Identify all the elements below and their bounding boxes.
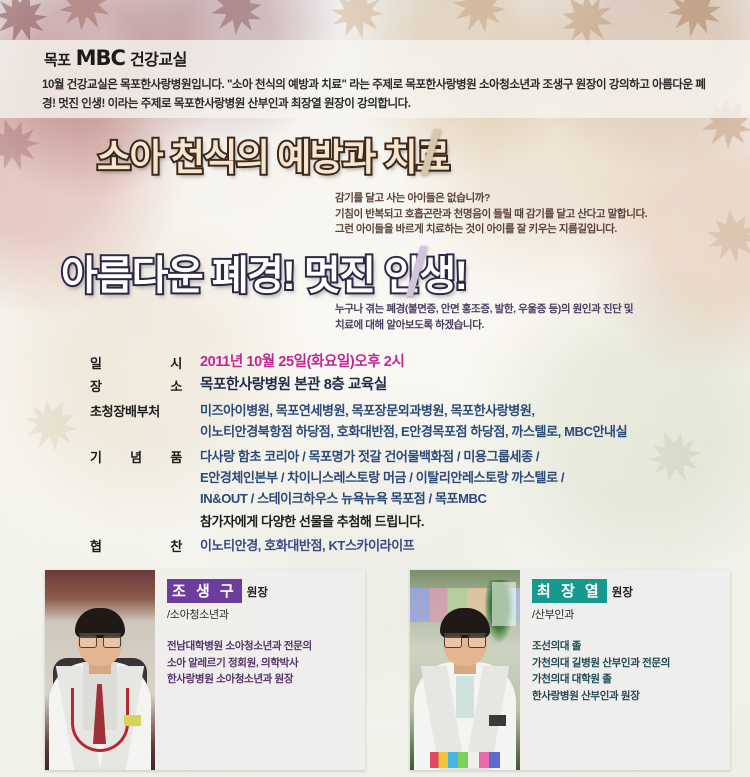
subtext-line: 감기를 달고 사는 아이들은 없습니까? (335, 191, 735, 207)
headline-one-subtext: 감기를 달고 사는 아이들은 없습니까? 기침이 반복되고 호흡곤란과 천명음이… (335, 191, 735, 238)
maple-leaf-icon (664, 0, 727, 42)
glasses-icon (79, 633, 121, 644)
doctor-department: /산부인과 (532, 606, 720, 622)
label-sponsor-b: 찬 (170, 536, 182, 555)
scrub-collar-shape (456, 676, 474, 718)
doctor-name-line: 최 장 열 원장 (532, 579, 720, 603)
name-badge-icon (489, 715, 506, 726)
maple-leaf-icon (14, 388, 87, 461)
doctor-position: 원장 (612, 584, 633, 600)
label-gift-a: 기 (90, 447, 102, 466)
credential-line: 가천의대 대학원 졸 (532, 671, 720, 688)
doctor-credentials: 조선의대 졸 가천의대 길병원 산부인과 전문의 가천의대 대학원 졸 한사랑병… (532, 638, 720, 704)
brand-mbc: MBC (76, 46, 125, 70)
credential-line: 전남대학병원 소아청소년과 전문의 (167, 638, 355, 655)
name-badge-icon (124, 715, 141, 726)
doctor-name-line: 조 생 구 원장 (167, 579, 355, 603)
label-sponsor-a: 협 (90, 536, 102, 555)
invite-line: 이노티안경북항점 하당점, 호화대반점, E안경목포점 하당점, 까스텔로, M… (200, 421, 627, 442)
brand-logo: 목포 MBC 건강교실 (44, 46, 187, 70)
poster-background: 목포 MBC 건강교실 10월 건강교실은 목포한사랑병원입니다. "소아 천식… (0, 0, 750, 777)
gift-line: E안경체인본부 / 차이니스레스토랑 머금 / 이탈리안레스토랑 까스텔로 / (200, 467, 564, 488)
subtext-line: 누구나 겪는 폐경(불면증, 안면 홍조증, 발한, 우울증 등)의 원인과 진… (335, 302, 735, 318)
value-gift: 다사랑 함초 코리아 / 목포명가 젓갈 건어물백화점 / 미용그룹세종 / E… (200, 446, 564, 509)
doctor-position: 원장 (247, 584, 268, 600)
label-place-a: 장 (90, 376, 102, 395)
window-shape (492, 582, 516, 626)
label-note-spacer (90, 511, 200, 512)
credential-line: 조선의대 졸 (532, 638, 720, 655)
glasses-icon (444, 633, 486, 644)
value-datetime: 2011년 10월 25일(화요일)오후 2시 (200, 352, 404, 373)
subtext-line: 그런 아이들을 바르게 치료하는 것이 아이를 잘 키우는 지름길입니다. (335, 222, 735, 238)
credential-line: 한사랑병원 소아청소년과 원장 (167, 671, 355, 688)
info-row-invite: 초청장배부처 미즈아이병원, 목포연세병원, 목포장문외과병원, 목포한사랑병원… (90, 400, 690, 442)
doctor-name: 조 생 구 (167, 579, 242, 603)
credential-line: 한사랑병원 산부인과 원장 (532, 688, 720, 705)
doctor-card: 최 장 열 원장 /산부인과 조선의대 졸 가천의대 길병원 산부인과 전문의 … (410, 570, 730, 770)
doctor-photo (410, 570, 520, 770)
value-sponsor: 이노티안경, 호화대반점, KT스카이라이프 (200, 535, 414, 556)
doctor-name: 최 장 열 (532, 579, 607, 603)
intro-paragraph: 10월 건강교실은 목포한사랑병원입니다. "소아 천식의 예방과 치료" 라는… (42, 76, 707, 114)
maple-leaf-icon (325, 0, 389, 45)
headline-one-group: 소아 천식의 예방과 치료 (97, 127, 449, 181)
credential-line: 소아 알레르기 정회원, 의학박사 (167, 655, 355, 672)
brand-mokpo: 목포 (44, 49, 71, 70)
info-row-sponsor: 협 찬 이노티안경, 호화대반점, KT스카이라이프 (90, 535, 690, 556)
value-note: 참가자에게 다양한 선물을 추첨해 드립니다. (200, 511, 424, 532)
info-row-note: 참가자에게 다양한 선물을 추첨해 드립니다. (90, 511, 690, 532)
doctor-credentials: 전남대학병원 소아청소년과 전문의 소아 알레르기 정회원, 의학박사 한사랑병… (167, 638, 355, 688)
doctor-info-pane: 최 장 열 원장 /산부인과 조선의대 졸 가천의대 길병원 산부인과 전문의 … (520, 570, 730, 770)
headline-one-title: 소아 천식의 예방과 치료 (97, 127, 449, 181)
label-gift: 기 념 품 (90, 446, 200, 466)
invite-line: 미즈아이병원, 목포연세병원, 목포장문외과병원, 목포한사랑병원, (200, 400, 627, 421)
value-invite: 미즈아이병원, 목포연세병원, 목포장문외과병원, 목포한사랑병원, 이노티안경… (200, 400, 627, 442)
label-place-b: 소 (170, 376, 182, 395)
label-datetime-a: 일 (90, 353, 102, 372)
doctor-info-pane: 조 생 구 원장 /소아청소년과 전남대학병원 소아청소년과 전문의 소아 알레… (155, 570, 365, 770)
doctor-card: 조 생 구 원장 /소아청소년과 전남대학병원 소아청소년과 전문의 소아 알레… (45, 570, 365, 770)
label-gift-b: 념 (130, 447, 142, 466)
maple-leaf-icon (48, 0, 122, 42)
maple-leaf-icon (0, 111, 47, 179)
brand-class: 건강교실 (130, 46, 187, 70)
maple-leaf-icon (443, 0, 514, 43)
credential-line: 가천의대 길병원 산부인과 전문의 (532, 655, 720, 672)
label-datetime-b: 시 (170, 353, 182, 372)
subtext-line: 치료에 대해 알아보도록 하겠습니다. (335, 318, 735, 334)
doctor-photo (45, 570, 155, 770)
label-place: 장 소 (90, 375, 200, 395)
gift-line: IN&OUT / 스테이크하우스 뉴욕뉴욕 목포점 / 목포MBC (200, 488, 564, 509)
headline-two-group: 아름다운 폐경! 멋진 인생! (61, 243, 466, 301)
info-row-place: 장 소 목포한사랑병원 본관 8층 교육실 (90, 375, 690, 396)
label-gift-c: 품 (170, 447, 182, 466)
headline-two-subtext: 누구나 겪는 폐경(불면증, 안면 홍조증, 발한, 우울증 등)의 원인과 진… (335, 302, 735, 333)
info-row-gift: 기 념 품 다사랑 함초 코리아 / 목포명가 젓갈 건어물백화점 / 미용그룹… (90, 446, 690, 509)
subtext-line: 기침이 반복되고 호흡곤란과 천명음이 들릴 때 감기를 달고 산다고 말합니다… (335, 207, 735, 223)
info-row-datetime: 일 시 2011년 10월 25일(화요일)오후 2시 (90, 352, 690, 373)
colored-pens-shape (430, 752, 500, 768)
gift-line: 다사랑 함초 코리아 / 목포명가 젓갈 건어물백화점 / 미용그룹세종 / (200, 446, 564, 467)
label-sponsor: 협 찬 (90, 535, 200, 555)
label-invite: 초청장배부처 (90, 400, 200, 420)
doctor-department: /소아청소년과 (167, 606, 355, 622)
label-datetime: 일 시 (90, 352, 200, 372)
stethoscope-icon (71, 688, 129, 752)
value-place: 목포한사랑병원 본관 8층 교육실 (200, 375, 387, 396)
event-info-table: 일 시 2011년 10월 25일(화요일)오후 2시 장 소 목포한사랑병원 … (90, 352, 690, 558)
